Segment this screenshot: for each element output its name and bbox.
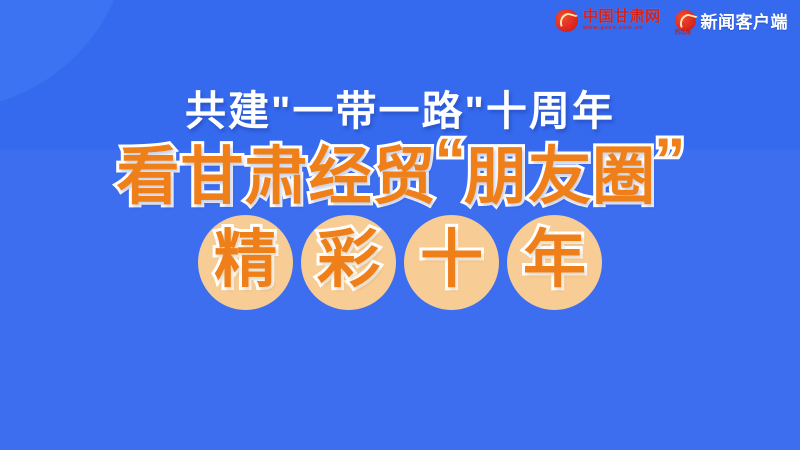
circle-character-label: 精 [214,229,277,292]
logo-news-client[interactable]: 西北角 新闻客户端 [675,8,789,33]
logo-gansu-net-text: 中国甘肃网 www.gscn.com.cn [583,9,661,31]
headline-line-2: 看甘肃经贸“朋友圈” [117,146,684,209]
headline-open-quote: “ [435,130,467,193]
headline-line-3: 精 彩 十 年 [0,215,800,310]
logo-news-client-mark: 西北角 [675,10,696,31]
logo-gansu-net[interactable]: 中国甘肃网 www.gscn.com.cn [555,9,661,32]
circle-character-label: 彩 [317,229,380,292]
headline-line-2-pre: 看甘肃经贸 [117,146,437,209]
logo-news-client-badge: 西北角 [675,28,692,36]
logo-bar: 中国甘肃网 www.gscn.com.cn 西北角 新闻客户端 [555,8,788,33]
flame-swoosh-icon [555,9,578,32]
circle-character: 精 [198,215,293,310]
circle-character: 彩 [301,215,396,310]
circle-character-label: 年 [523,229,586,292]
headline-close-quote: ” [654,130,686,193]
headline-block: 共建"一带一路"十周年 看甘肃经贸“朋友圈” 精 彩 十 年 [0,86,800,310]
headline-line-2-quoted: 朋友圈 [464,146,656,209]
poster-canvas: 中国甘肃网 www.gscn.com.cn 西北角 新闻客户端 共建"一带一路"… [0,0,800,450]
logo-gansu-net-name: 中国甘肃网 [583,9,661,24]
circle-character-label: 十 [420,229,483,292]
circle-character: 十 [404,215,499,310]
logo-gansu-net-url: www.gscn.com.cn [583,26,661,31]
circle-character: 年 [507,215,602,310]
logo-news-client-name: 新闻客户端 [701,8,789,33]
